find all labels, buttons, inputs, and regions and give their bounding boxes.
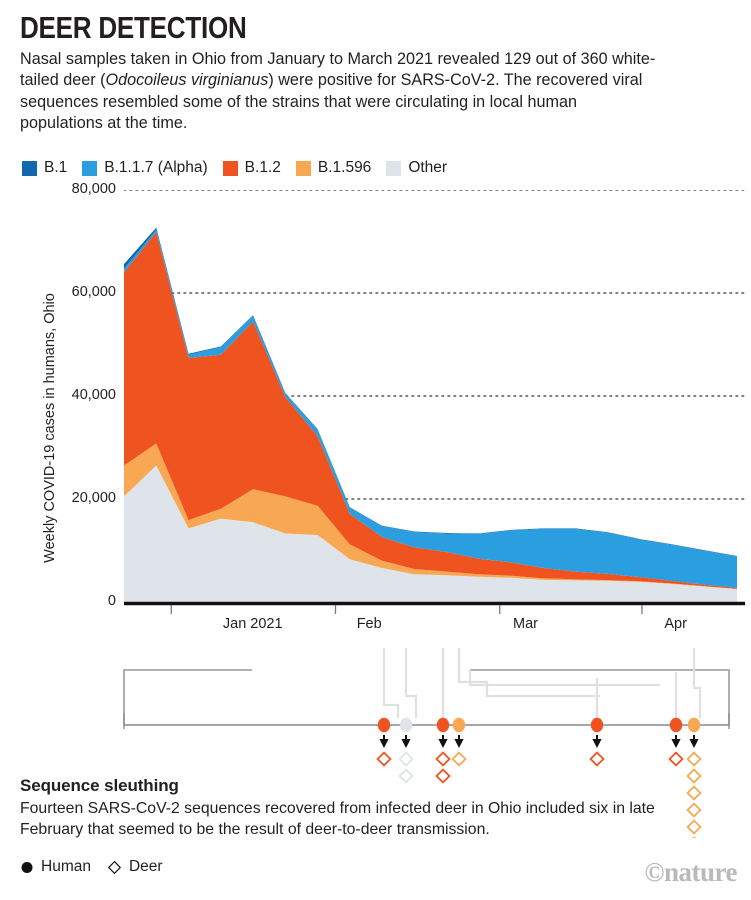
- standfirst: Nasal samples taken in Ohio from January…: [20, 49, 660, 135]
- timeline-connector: [124, 670, 252, 725]
- legend-label: Other: [408, 159, 447, 177]
- y-axis-ticks: 020,00040,00060,00080,000: [46, 190, 116, 630]
- legend-entry-b-1-596[interactable]: B.1.596: [296, 159, 371, 177]
- deer-marker-feb-cluster-2[interactable]: [400, 753, 413, 766]
- species-name: Odocoileus virginianus: [105, 71, 268, 89]
- strain-legend: B.1B.1.1.7 (Alpha)B.1.2B.1.596Other: [22, 159, 462, 177]
- legend-label: B.1.596: [318, 159, 371, 177]
- legend-label: B.1: [44, 159, 67, 177]
- x-axis-tick-label: Apr: [646, 616, 706, 632]
- legend-swatch-icon: [22, 161, 37, 176]
- deer-marker-feb-cluster-3[interactable]: [437, 753, 450, 766]
- deer-marker-apr-cluster-3[interactable]: [688, 804, 701, 817]
- legend-entry-b-1-1-7-alpha[interactable]: B.1.1.7 (Alpha): [82, 159, 207, 177]
- human-marker-apr-cluster-3[interactable]: [688, 718, 700, 732]
- sleuthing-title: Sequence sleuthing: [20, 776, 680, 796]
- arrow-down-icon: [401, 739, 410, 748]
- human-marker-feb-cluster-4[interactable]: [453, 718, 465, 732]
- sequence-sleuthing-block: Sequence sleuthing Fourteen SARS-CoV-2 s…: [20, 776, 680, 841]
- timeline-connector: [470, 670, 729, 725]
- x-axis-tick-label: Feb: [339, 616, 399, 632]
- nature-credit: ©nature: [644, 857, 737, 888]
- x-axis-tick-label: Mar: [496, 616, 556, 632]
- sleuthing-body: Fourteen SARS-CoV-2 sequences recovered …: [20, 799, 670, 841]
- arrow-down-icon: [671, 739, 680, 748]
- timeline-connector: [694, 648, 700, 718]
- y-axis-tick-label: 40,000: [46, 387, 116, 403]
- human-marker-apr-cluster-1[interactable]: [591, 718, 603, 732]
- human-marker-feb-cluster-2[interactable]: [400, 718, 412, 732]
- deer-marker-apr-cluster-3[interactable]: [688, 787, 701, 800]
- stacked-area-svg: [124, 190, 751, 620]
- plot-area: Jan 2021FebMarApr: [124, 190, 737, 620]
- deer-marker-apr-cluster-1[interactable]: [591, 753, 604, 766]
- deer-marker-apr-cluster-3[interactable]: [688, 821, 701, 834]
- y-axis-tick-label: 60,000: [46, 284, 116, 300]
- legend-swatch-icon: [296, 161, 311, 176]
- legend-swatch-icon: [82, 161, 97, 176]
- deer-diamond-icon: [107, 860, 122, 875]
- legend-entry-b-1-2[interactable]: B.1.2: [223, 159, 281, 177]
- legend-entry-b-1[interactable]: B.1: [22, 159, 67, 177]
- timeline-connector: [459, 648, 600, 696]
- legend-swatch-icon: [223, 161, 238, 176]
- deer-marker-apr-cluster-2[interactable]: [670, 753, 683, 766]
- marker-key: Human Deer: [20, 858, 163, 876]
- timeline-connector: [470, 670, 660, 685]
- arrow-down-icon: [379, 739, 388, 748]
- arrow-down-icon: [438, 739, 447, 748]
- human-marker-feb-cluster-3[interactable]: [437, 718, 449, 732]
- human-marker-apr-cluster-2[interactable]: [670, 718, 682, 732]
- timeline-connector: [406, 648, 416, 718]
- arrow-down-icon: [592, 739, 601, 748]
- arrow-down-icon: [454, 739, 463, 748]
- header: DEER DETECTION Nasal samples taken in Oh…: [20, 12, 720, 135]
- legend-entry-other[interactable]: Other: [386, 159, 447, 177]
- page-title: DEER DETECTION: [20, 12, 608, 45]
- legend-label: B.1.2: [245, 159, 281, 177]
- key-deer-label: Deer: [129, 858, 163, 876]
- deer-marker-apr-cluster-3[interactable]: [688, 770, 701, 783]
- deer-marker-apr-cluster-3[interactable]: [688, 753, 701, 766]
- deer-marker-feb-cluster-1[interactable]: [378, 753, 391, 766]
- human-marker-feb-cluster-1[interactable]: [378, 718, 390, 732]
- human-circle-icon: [20, 860, 34, 874]
- y-axis-tick-label: 80,000: [46, 181, 116, 197]
- legend-label: B.1.1.7 (Alpha): [104, 159, 207, 177]
- key-deer: Deer: [107, 858, 163, 876]
- key-human-label: Human: [41, 858, 91, 876]
- arrow-down-icon: [689, 739, 698, 748]
- timeline-connector: [384, 648, 398, 718]
- legend-swatch-icon: [386, 161, 401, 176]
- x-axis-tick-label: Jan 2021: [223, 616, 283, 632]
- deer-marker-feb-cluster-4[interactable]: [453, 753, 466, 766]
- area-chart: Weekly COVID-19 cases in humans, Ohio 02…: [0, 190, 751, 650]
- key-human: Human: [20, 858, 91, 876]
- y-axis-tick-label: 20,000: [46, 490, 116, 506]
- y-axis-tick-label: 0: [46, 593, 116, 609]
